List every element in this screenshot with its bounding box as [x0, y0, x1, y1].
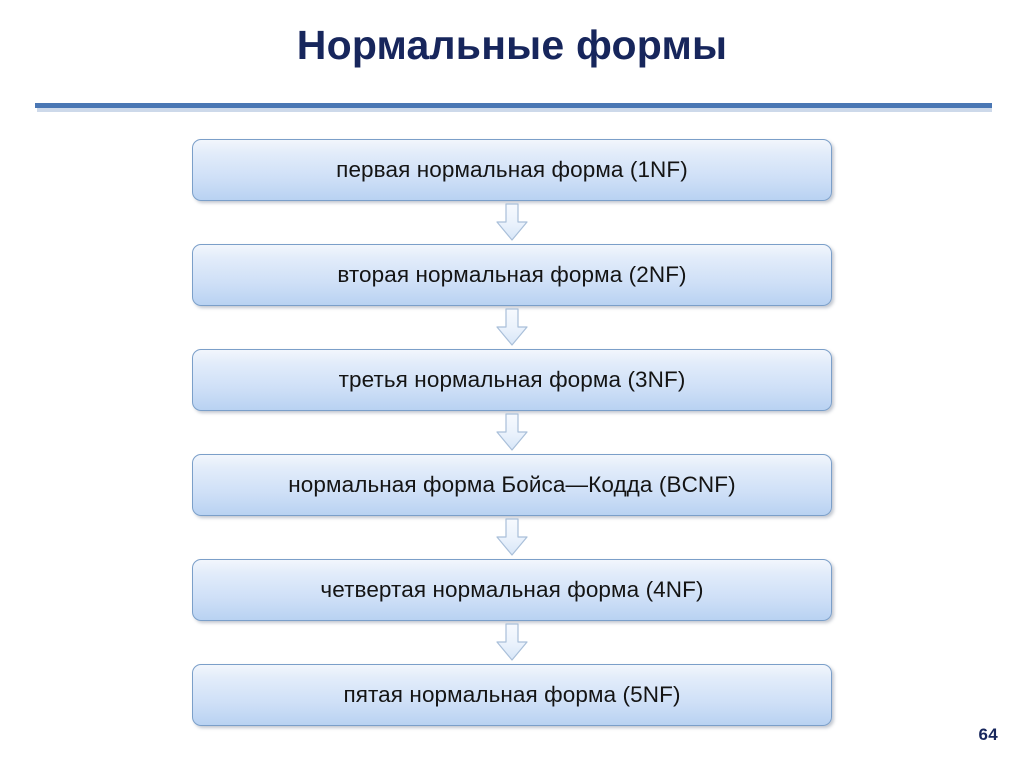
flow-step-box-4[interactable]: нормальная форма Бойса—Кодда (BCNF)	[192, 454, 832, 516]
flow-step-2[interactable]: вторая нормальная форма (2NF)	[192, 244, 832, 306]
flow-step-label: третья нормальная форма (3NF)	[339, 369, 686, 392]
arrow-down-icon	[495, 413, 529, 452]
flow-step-box-6[interactable]: пятая нормальная форма (5NF)	[192, 664, 832, 726]
flow-step-6[interactable]: пятая нормальная форма (5NF)	[192, 664, 832, 726]
flow-step-5[interactable]: четвертая нормальная форма (4NF)	[192, 559, 832, 621]
slide-canvas: Нормальные формы первая нормальная форма…	[0, 0, 1024, 767]
flow-connector-1	[192, 201, 832, 244]
page-title: Нормальные формы	[0, 22, 1024, 69]
divider-rule-shadow	[37, 108, 992, 112]
arrow-down-icon	[495, 623, 529, 662]
flow-step-box-3[interactable]: третья нормальная форма (3NF)	[192, 349, 832, 411]
arrow-down-icon	[495, 518, 529, 557]
flow-step-1[interactable]: первая нормальная форма (1NF)	[192, 139, 832, 201]
arrow-down-icon	[495, 203, 529, 242]
flow-connector-3	[192, 411, 832, 454]
slide-number: 64	[978, 725, 998, 745]
flow-step-label: нормальная форма Бойса—Кодда (BCNF)	[288, 474, 735, 497]
normal-forms-flowchart: первая нормальная форма (1NF) вторая нор…	[192, 139, 832, 726]
flow-step-box-5[interactable]: четвертая нормальная форма (4NF)	[192, 559, 832, 621]
flow-step-3[interactable]: третья нормальная форма (3NF)	[192, 349, 832, 411]
arrow-down-icon	[495, 308, 529, 347]
flow-step-4[interactable]: нормальная форма Бойса—Кодда (BCNF)	[192, 454, 832, 516]
flow-step-label: четвертая нормальная форма (4NF)	[320, 579, 703, 602]
title-divider	[35, 103, 992, 113]
flow-step-box-2[interactable]: вторая нормальная форма (2NF)	[192, 244, 832, 306]
flow-connector-4	[192, 516, 832, 559]
flow-step-label: пятая нормальная форма (5NF)	[343, 684, 680, 707]
flow-step-label: первая нормальная форма (1NF)	[336, 159, 688, 182]
flow-step-box-1[interactable]: первая нормальная форма (1NF)	[192, 139, 832, 201]
flow-connector-5	[192, 621, 832, 664]
flow-connector-2	[192, 306, 832, 349]
flow-step-label: вторая нормальная форма (2NF)	[337, 264, 686, 287]
